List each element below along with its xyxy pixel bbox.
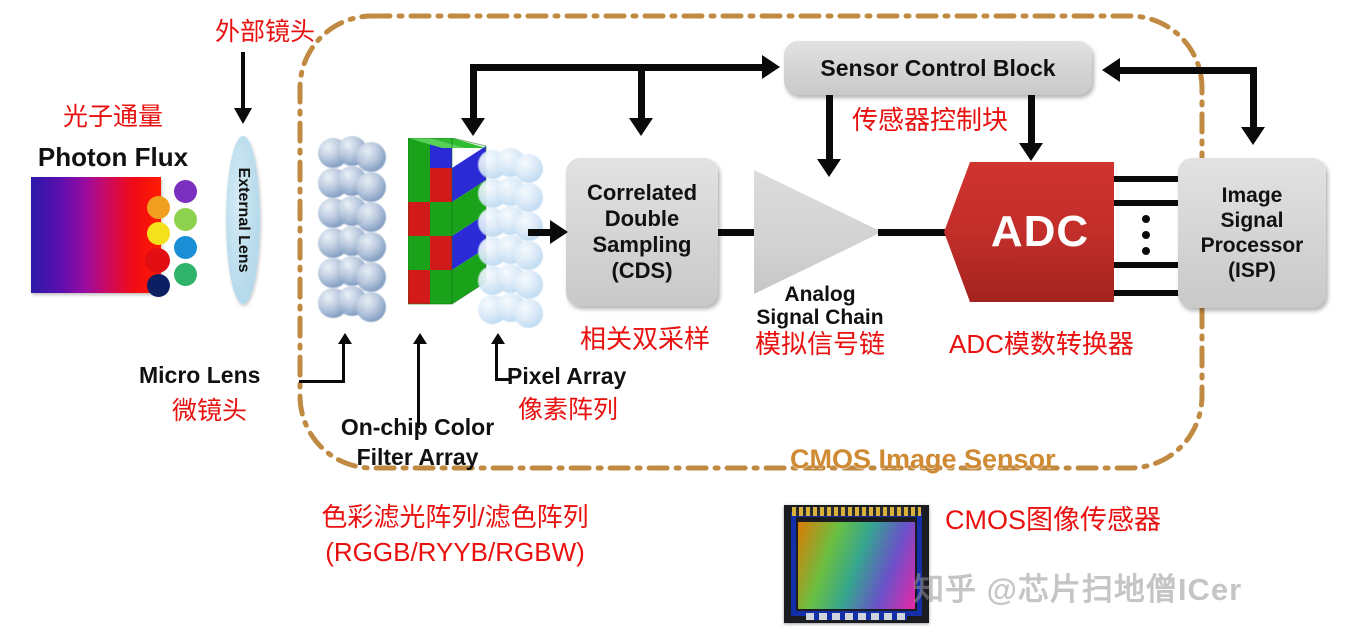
color-filter-label-en-line2: Filter Array [330, 445, 505, 471]
adc-isp-bus-line-4 [1114, 290, 1180, 296]
cmos-title-cn: CMOS图像传感器 [945, 505, 1161, 535]
cmos-title-en: CMOS Image Sensor [790, 444, 1056, 475]
cds-line3: Sampling [587, 232, 697, 258]
external-lens: External Lens [226, 136, 260, 304]
control-bus-arrow-to-scb [762, 55, 780, 79]
sensor-control-label: Sensor Control Block [820, 55, 1055, 82]
control-bus-branch-2-arrow [629, 118, 653, 136]
isp-line2: Signal [1201, 208, 1304, 233]
isp-feedback-horizontal [1120, 67, 1257, 74]
scb-to-adc-shaft [1028, 95, 1035, 145]
isp-line3: Processor [1201, 233, 1304, 258]
flux-dot-lightgreen [174, 208, 197, 231]
pixel-pointer-head [491, 333, 505, 344]
control-bus-branch-2-shaft [638, 64, 645, 120]
adc-label: ADC [991, 207, 1089, 257]
flux-dot-navy [147, 274, 170, 297]
pixel-pointer-shaft [495, 343, 498, 381]
isp-feedback-arrow-to-scb [1102, 58, 1120, 82]
cds-block[interactable]: Correlated Double Sampling (CDS) [566, 158, 718, 306]
flux-dot-green [174, 263, 197, 286]
micro-lens-array [318, 136, 400, 336]
color-filter-label-cn-line1: 色彩滤光阵列/滤色阵列 [255, 503, 655, 532]
color-filter-label-cn-line2: (RGGB/RYYB/RGBW) [255, 538, 655, 567]
cds-to-amp-line [718, 229, 756, 236]
external-lens-arrow-head [234, 108, 252, 124]
watermark: 知乎 @芯片扫地僧ICer [913, 564, 1242, 609]
cmos-sensor-photo [784, 505, 929, 623]
adc-isp-bus-dot-1 [1142, 215, 1150, 223]
sensor-control-block[interactable]: Sensor Control Block [784, 41, 1092, 95]
isp-line1: Image [1201, 183, 1304, 208]
color-filter-label-en-line1: On-chip Color [330, 415, 505, 441]
cds-line2: Double [587, 206, 697, 232]
adc-isp-bus-dot-2 [1142, 231, 1150, 239]
flux-dot-blue [174, 236, 197, 259]
analog-chain-label-line1: Analog [745, 283, 895, 307]
photon-flux-gradient [31, 177, 161, 293]
isp-line4: (ISP) [1201, 258, 1304, 283]
analog-chain-label-cn: 模拟信号链 [735, 330, 905, 359]
scb-to-amp-shaft [826, 95, 833, 161]
external-lens-label-en: External Lens [234, 168, 252, 273]
adc-isp-bus-line-3 [1114, 262, 1180, 268]
cfa-pointer-head [413, 333, 427, 344]
micro-lens-label-en: Micro Lens [139, 363, 260, 389]
external-lens-arrow-shaft [241, 52, 245, 110]
micro-lens-label-cn: 微镜头 [172, 397, 247, 425]
isp-feedback-arrow-down [1241, 127, 1265, 145]
cmos-image-sensor-diagram: 光子通量 Photon Flux 外部镜头 External Lens [0, 0, 1348, 631]
flux-dot-purple [174, 180, 197, 203]
scb-to-amp-arrow [817, 159, 841, 177]
pixel-array [478, 148, 558, 338]
analog-chain-label-line2: Signal Chain [739, 306, 901, 330]
pixel-array-label-en: Pixel Array [507, 364, 626, 390]
control-bus-top-horizontal [470, 64, 764, 71]
isp-block[interactable]: Image Signal Processor (ISP) [1178, 158, 1326, 308]
photon-flux-label-cn: 光子通量 [38, 103, 188, 131]
cds-line4: (CDS) [587, 258, 697, 284]
sensor-control-label-cn: 传感器控制块 [852, 106, 1008, 135]
adc-block[interactable]: ADC [944, 162, 1114, 302]
adc-isp-bus-dot-3 [1142, 247, 1150, 255]
amp-to-adc-line [878, 229, 948, 236]
adc-label-cn: ADC模数转换器 [949, 330, 1134, 359]
micro-lens-pointer-shaft [342, 343, 345, 383]
micro-lens-pointer-elbow [299, 380, 345, 383]
adc-isp-bus-line-1 [1114, 176, 1180, 182]
cds-label-cn: 相关双采样 [570, 325, 720, 354]
micro-lens-pointer-head [338, 333, 352, 344]
adc-isp-bus-line-2 [1114, 200, 1180, 206]
pixelarray-to-cds-line [528, 229, 552, 236]
isp-feedback-vertical [1250, 67, 1257, 129]
pixelarray-to-cds-arrow [550, 220, 568, 244]
flux-dot-red [145, 248, 170, 273]
control-bus-branch-1-arrow [461, 118, 485, 136]
flux-dot-yellow [147, 222, 170, 245]
pixel-array-label-cn: 像素阵列 [518, 396, 618, 424]
control-bus-branch-1-shaft [470, 64, 477, 120]
cds-line1: Correlated [587, 180, 697, 206]
external-lens-label-cn: 外部镜头 [185, 18, 345, 46]
flux-dot-orange [147, 196, 170, 219]
scb-to-adc-arrow [1019, 143, 1043, 161]
photon-flux-label-en: Photon Flux [14, 143, 212, 172]
